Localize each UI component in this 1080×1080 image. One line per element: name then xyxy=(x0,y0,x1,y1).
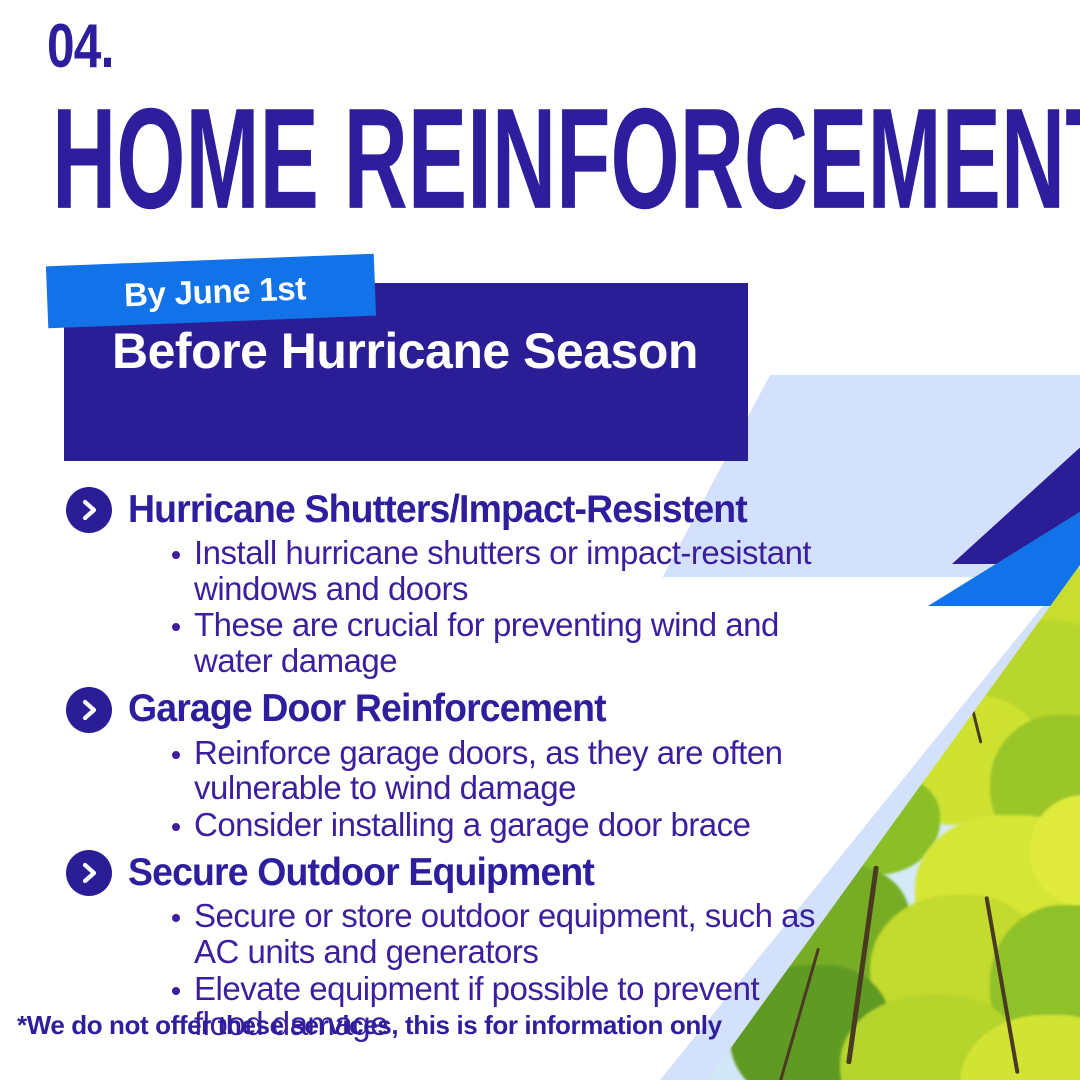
section-header: Garage Door Reinforcement xyxy=(0,687,960,733)
section-title: Garage Door Reinforcement xyxy=(128,689,606,730)
sections-list: Hurricane Shutters/Impact-Resistent Inst… xyxy=(0,487,960,1050)
section-hurricane-shutters: Hurricane Shutters/Impact-Resistent Inst… xyxy=(0,487,960,679)
section-bullets: Install hurricane shutters or impact-res… xyxy=(0,535,960,679)
poster-canvas: 04. HOME REINFORCEMENT Before Hurricane … xyxy=(0,0,1080,1080)
chevron-right-circle-icon xyxy=(66,687,112,733)
disclaimer-text: *We do not offer these services, this is… xyxy=(17,1010,722,1041)
section-number: 04. xyxy=(47,16,114,78)
bullet-item: Install hurricane shutters or impact-res… xyxy=(170,535,834,606)
bullet-item: Consider installing a garage door brace xyxy=(170,807,834,843)
bullet-item: These are crucial for preventing wind an… xyxy=(170,607,834,678)
deadline-badge: By June 1st xyxy=(46,254,376,329)
section-header: Hurricane Shutters/Impact-Resistent xyxy=(0,487,960,533)
section-title: Hurricane Shutters/Impact-Resistent xyxy=(128,490,747,531)
section-title: Secure Outdoor Equipment xyxy=(128,853,594,894)
subtitle-text: Before Hurricane Season xyxy=(112,323,712,380)
bullet-item: Reinforce garage doors, as they are ofte… xyxy=(170,735,834,806)
chevron-right-circle-icon xyxy=(66,850,112,896)
section-garage-door: Garage Door Reinforcement Reinforce gara… xyxy=(0,687,960,843)
chevron-right-circle-icon xyxy=(66,487,112,533)
section-header: Secure Outdoor Equipment xyxy=(0,850,960,896)
section-bullets: Reinforce garage doors, as they are ofte… xyxy=(0,735,960,843)
page-title: HOME REINFORCEMENT xyxy=(52,88,1080,231)
bullet-item: Secure or store outdoor equipment, such … xyxy=(170,898,834,969)
deadline-badge-label: By June 1st xyxy=(46,268,375,314)
